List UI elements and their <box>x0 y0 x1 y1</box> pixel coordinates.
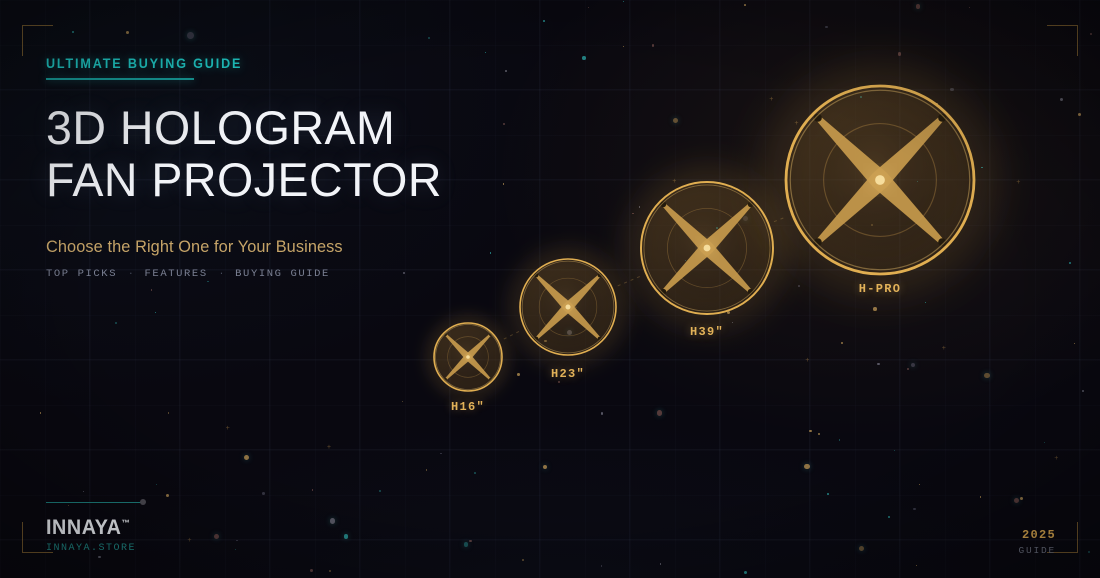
year-block: 2025 GUIDE <box>1018 528 1056 556</box>
brand-block: INNAYA™ INNAYA.STORE <box>46 502 142 555</box>
fan-hub <box>875 175 885 185</box>
brand-name: INNAYA™ <box>46 516 136 540</box>
year-sublabel: GUIDE <box>1018 545 1056 556</box>
product-label-H23: H23" <box>551 367 585 381</box>
brand-rule <box>46 502 142 504</box>
brand-rule-dot <box>140 499 146 505</box>
year-value: 2025 <box>1018 528 1056 542</box>
product-label-H16: H16" <box>451 400 485 414</box>
fan-hub <box>704 245 711 252</box>
product-lineup: H16"H23"H39"H-PRO <box>0 0 1100 578</box>
brand-trademark-icon: ™ <box>121 518 129 528</box>
fan-hub <box>466 355 470 359</box>
product-label-HPRO: H-PRO <box>859 282 902 296</box>
brand-url: INNAYA.STORE <box>46 543 142 554</box>
product-label-H39: H39" <box>690 325 724 339</box>
fan-hub <box>566 305 571 310</box>
poster-canvas: +++++++++++++ ULTIMATE BUYING GUIDE 3D H… <box>0 0 1100 578</box>
brand-name-text: INNAYA <box>46 516 121 539</box>
